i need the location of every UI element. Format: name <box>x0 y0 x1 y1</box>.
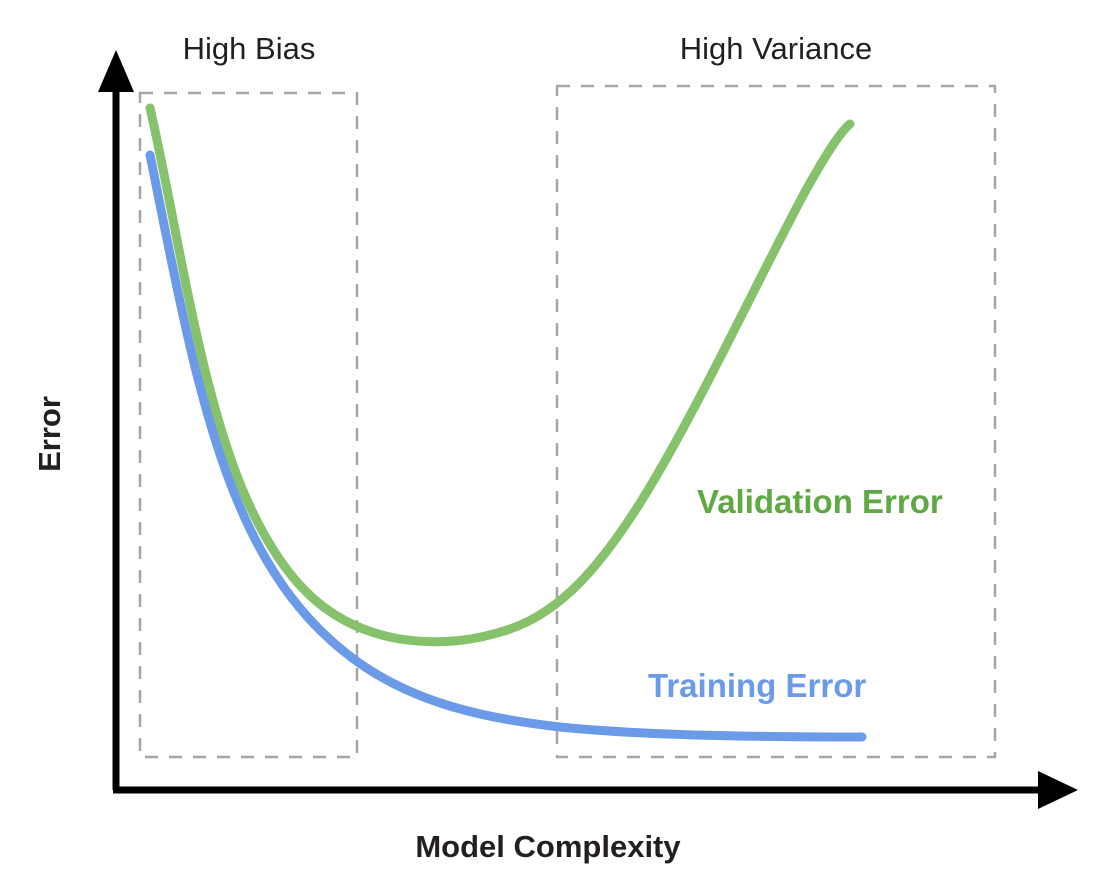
x-axis-arrow-icon <box>1038 771 1078 809</box>
training-error-series-label: Training Error <box>648 667 866 704</box>
high-variance-region-box <box>557 86 995 757</box>
x-axis-title: Model Complexity <box>415 829 681 864</box>
high-bias-label: High Bias <box>183 31 316 66</box>
chart-svg: High Bias High Variance Error Model Comp… <box>0 0 1106 884</box>
high-bias-region-box <box>140 93 357 757</box>
y-axis-arrow-icon <box>98 50 134 92</box>
y-axis-title: Error <box>32 396 67 472</box>
high-variance-label: High Variance <box>680 31 872 66</box>
training-error-curve <box>150 155 862 737</box>
validation-error-curve <box>150 108 850 642</box>
bias-variance-tradeoff-chart: High Bias High Variance Error Model Comp… <box>0 0 1106 884</box>
validation-error-series-label: Validation Error <box>697 483 943 520</box>
